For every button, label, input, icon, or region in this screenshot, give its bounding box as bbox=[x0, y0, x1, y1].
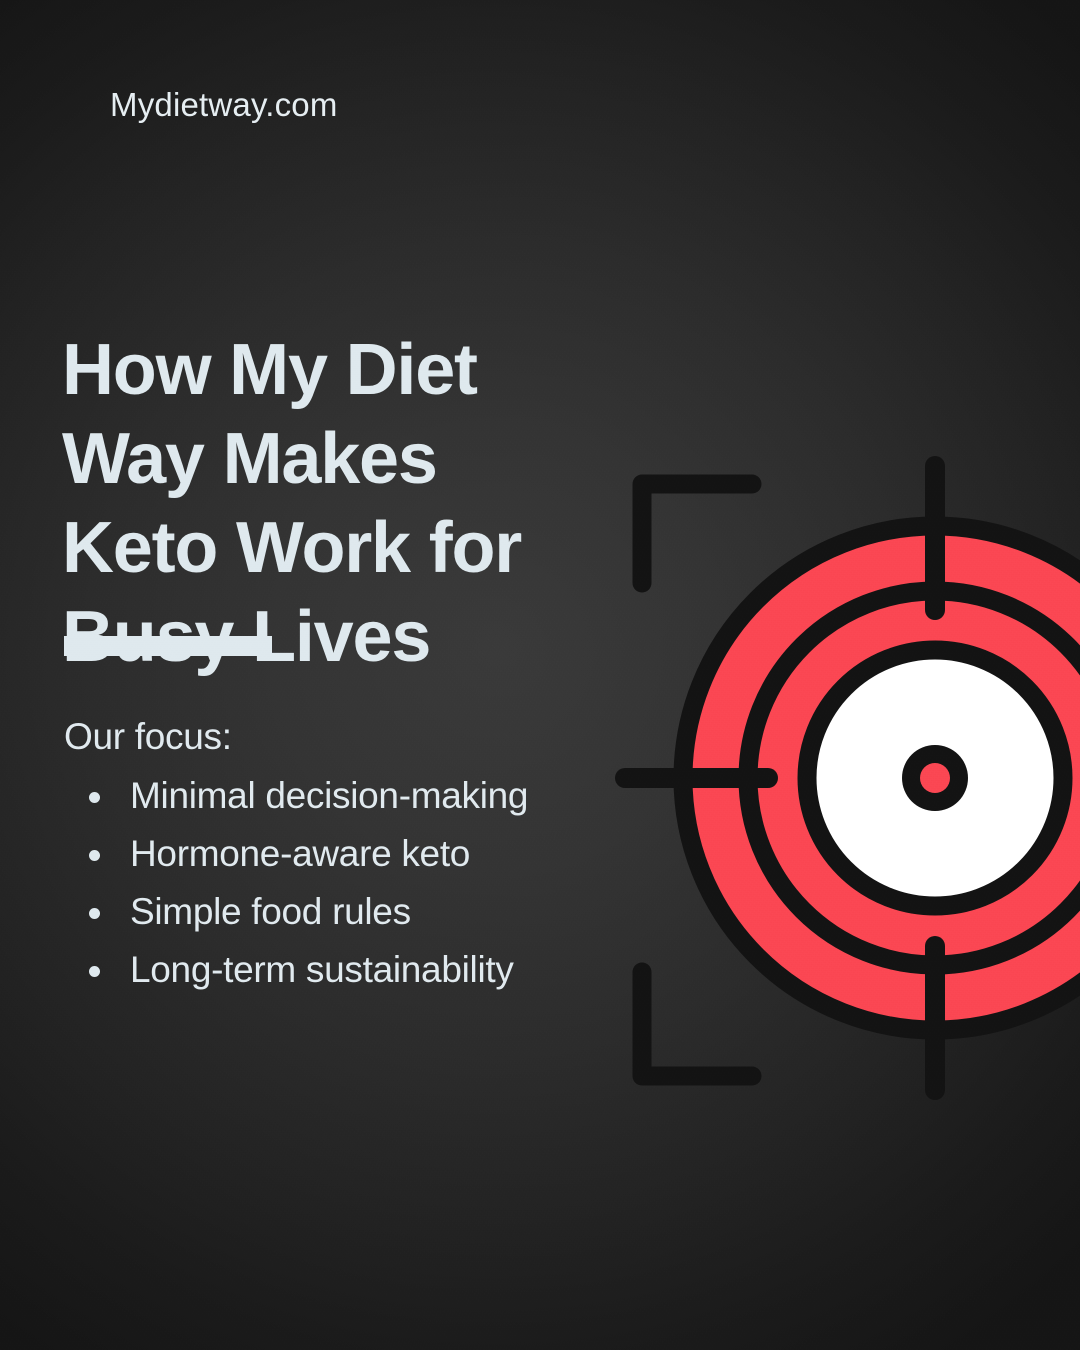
brand-site-name: Mydietway.com bbox=[110, 86, 338, 124]
target-crosshair-svg bbox=[600, 440, 1080, 1120]
headline-line-2: Way Makes bbox=[62, 415, 662, 504]
social-post-card: Mydietway.com How My Diet Way Makes Keto… bbox=[0, 0, 1080, 1350]
focus-list: Minimal decision-making Hormone-aware ke… bbox=[64, 770, 624, 996]
page-title: How My Diet Way Makes Keto Work for Busy… bbox=[62, 326, 662, 682]
headline-line-1: How My Diet bbox=[62, 326, 662, 415]
list-item: Hormone-aware keto bbox=[64, 828, 560, 880]
list-item: Minimal decision-making bbox=[64, 770, 560, 822]
target-crosshair-icon bbox=[600, 440, 1080, 1120]
focus-label: Our focus: bbox=[64, 712, 624, 762]
focus-block: Our focus: Minimal decision-making Hormo… bbox=[64, 712, 624, 1002]
headline-underline-bar bbox=[64, 636, 272, 656]
list-item: Long-term sustainability bbox=[64, 944, 560, 996]
list-item: Simple food rules bbox=[64, 886, 560, 938]
target-center-dot-inner bbox=[920, 763, 950, 793]
corner-bracket-bottom-left bbox=[642, 972, 752, 1076]
headline-line-3: Keto Work for bbox=[62, 504, 662, 593]
corner-bracket-top-left bbox=[642, 484, 752, 583]
